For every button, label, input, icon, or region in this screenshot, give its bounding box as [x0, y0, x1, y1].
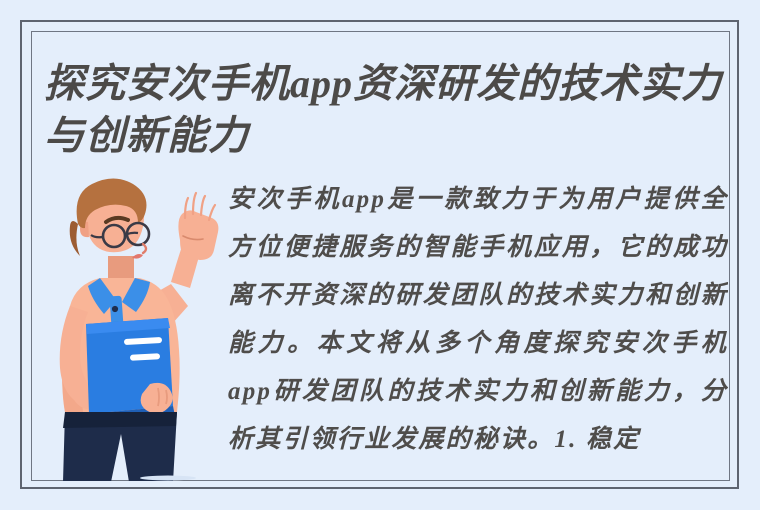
- waving-man-figure: [38, 178, 228, 481]
- page-title: 探究安次手机app资深研发的技术实力与创新能力: [44, 58, 734, 162]
- nose: [143, 244, 146, 253]
- article-body: 安次手机app是一款致力于为用户提供全方位便捷服务的智能手机应用，它的成功离不开…: [228, 176, 728, 476]
- article-card-canvas: 探究安次手机app资深研发的技术实力与创新能力: [0, 0, 760, 510]
- waistband: [63, 412, 177, 428]
- trousers-group: [63, 412, 177, 481]
- head-group: [70, 179, 149, 287]
- ground-shadow: [140, 476, 196, 481]
- illustration-waving-man: [38, 178, 228, 481]
- shirt-button: [112, 306, 118, 312]
